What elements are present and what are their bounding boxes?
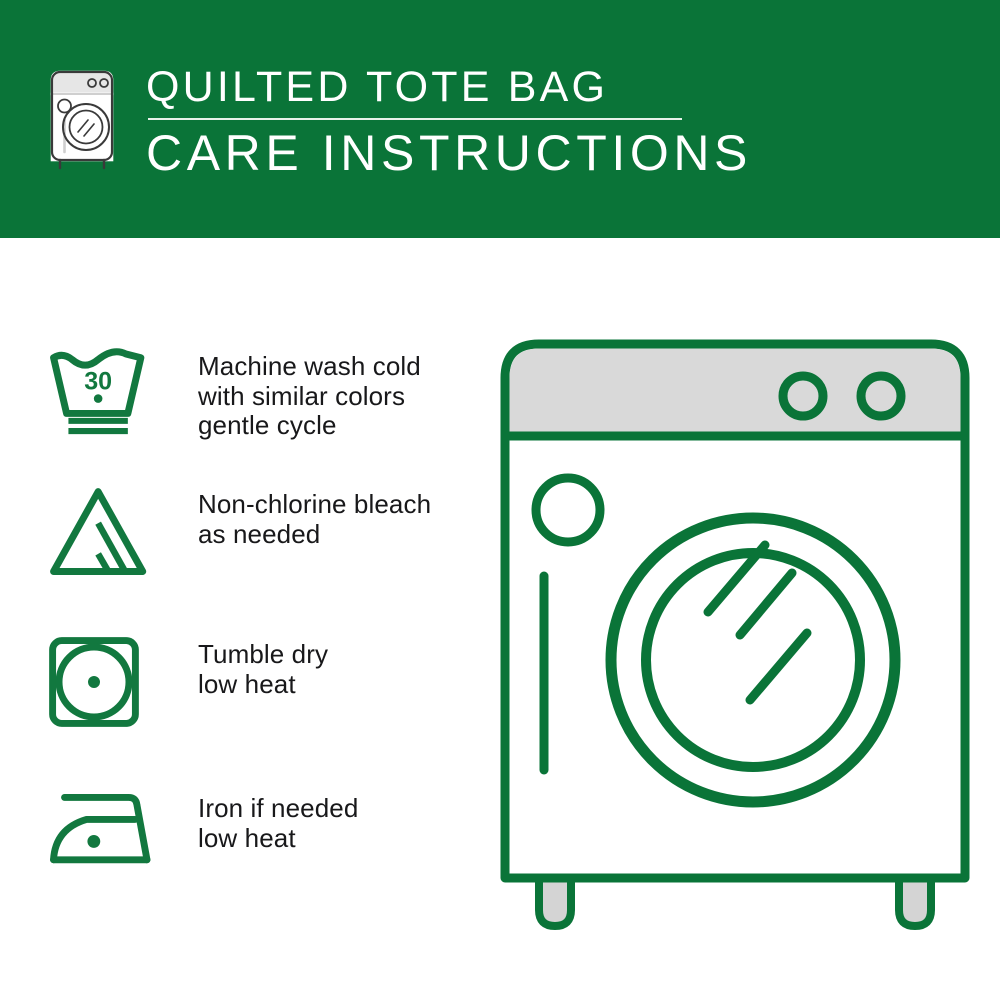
washing-machine-illustration — [495, 330, 975, 940]
wash-basin-30-icon: 30 — [48, 348, 166, 438]
control-panel — [510, 349, 961, 437]
header-content: QUILTED TOTE BAG CARE INSTRUCTIONS — [44, 62, 752, 182]
care-item-iron: Iron if needed low heat — [48, 790, 358, 869]
header-title-block: QUILTED TOTE BAG CARE INSTRUCTIONS — [146, 62, 752, 182]
care-item-wash: 30 Machine wash cold with similar colors… — [48, 348, 421, 441]
page-title: QUILTED TOTE BAG — [146, 62, 752, 112]
wash-temperature-label: 30 — [84, 367, 112, 395]
iron-icon — [48, 790, 166, 869]
washing-machine-icon — [44, 68, 116, 172]
care-item-wash-text: Machine wash cold with similar colors ge… — [198, 348, 421, 441]
tumble-dry-icon — [48, 636, 166, 728]
care-item-tumble-dry: Tumble dry low heat — [48, 636, 328, 728]
care-item-bleach-text: Non-chlorine bleach as needed — [198, 486, 431, 549]
bleach-triangle-icon — [48, 486, 166, 579]
care-item-bleach: Non-chlorine bleach as needed — [48, 486, 431, 579]
header-banner: QUILTED TOTE BAG CARE INSTRUCTIONS — [0, 0, 1000, 238]
title-divider — [148, 118, 682, 120]
care-item-tumble-dry-text: Tumble dry low heat — [198, 636, 328, 699]
page-subtitle: CARE INSTRUCTIONS — [146, 124, 752, 182]
care-instruction-list: 30 Machine wash cold with similar colors… — [0, 238, 470, 1000]
care-item-iron-text: Iron if needed low heat — [198, 790, 358, 853]
